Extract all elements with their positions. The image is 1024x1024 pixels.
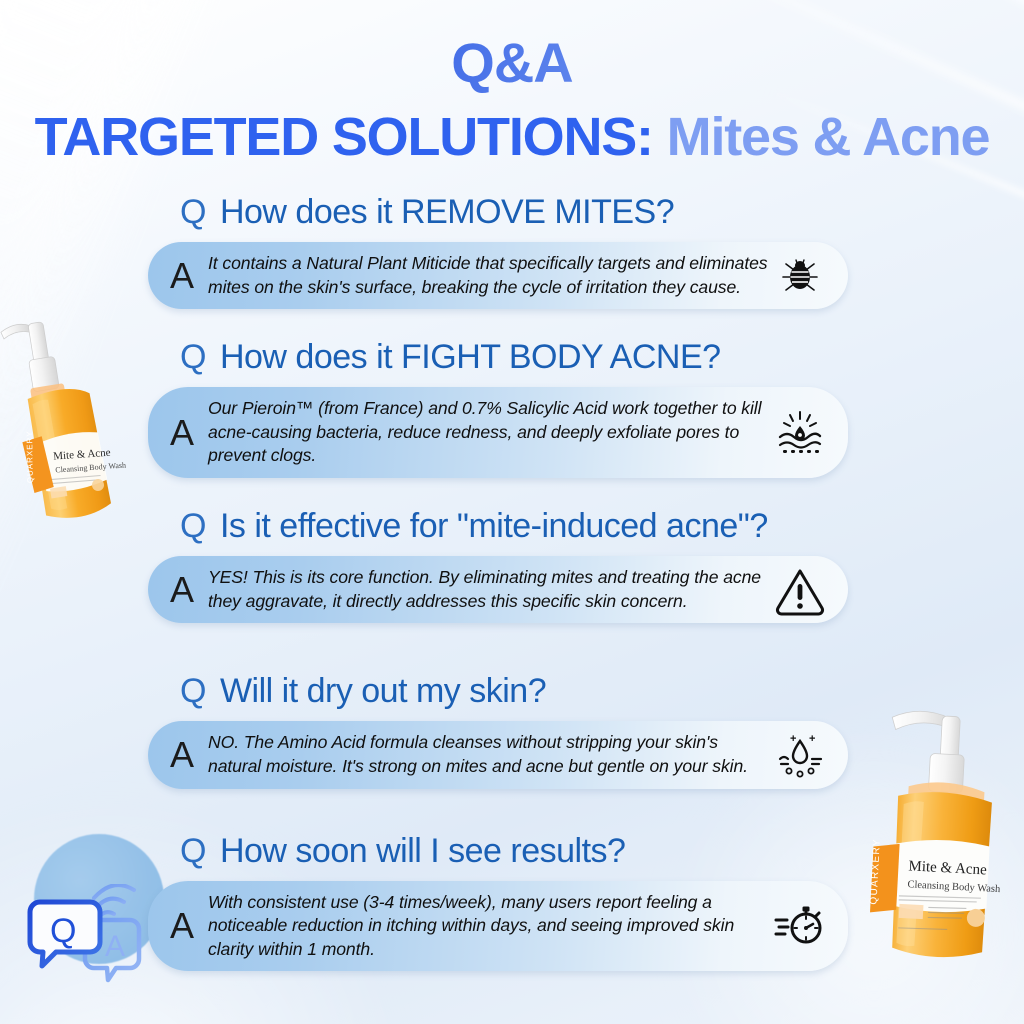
answer-text: NO. The Amino Acid formula cleanses with… xyxy=(208,731,770,778)
qa-block: Q How does it FIGHT BODY ACNE? A Our Pie… xyxy=(0,337,1024,478)
warning-triangle-icon xyxy=(774,564,826,616)
question-row: Q Will it dry out my skin? xyxy=(0,671,1024,711)
qa-infographic-poster: Q&A TARGETED SOLUTIONS: Mites & Acne Q H… xyxy=(0,0,1024,1024)
question-marker: Q xyxy=(180,831,206,871)
question-text: How does it REMOVE MITES? xyxy=(220,192,674,232)
answer-bubble: A NO. The Amino Acid formula cleanses wi… xyxy=(148,721,848,788)
page-title-qa: Q&A xyxy=(0,30,1024,95)
answer-marker: A xyxy=(170,572,194,608)
chat-icon-q-letter: Q xyxy=(50,912,76,950)
answer-marker: A xyxy=(170,737,194,773)
question-text: How soon will I see results? xyxy=(220,831,626,871)
answer-bubble: A It contains a Natural Plant Miticide t… xyxy=(148,242,848,309)
answer-bubble: A With consistent use (3-4 times/week), … xyxy=(148,881,848,972)
question-text: Will it dry out my skin? xyxy=(220,671,546,711)
answer-bubble: A Our Pieroin™ (from France) and 0.7% Sa… xyxy=(148,387,848,478)
svg-text:+: + xyxy=(790,733,796,745)
product-bottle-right: Mite & Acne Cleansing Body Wash QUARXERY xyxy=(859,698,1023,977)
question-text: How does it FIGHT BODY ACNE? xyxy=(220,337,721,377)
stopwatch-icon xyxy=(774,900,826,952)
svg-text:+: + xyxy=(809,733,815,745)
svg-text:QUARXERY: QUARXERY xyxy=(25,430,35,483)
question-row: Q How does it FIGHT BODY ACNE? xyxy=(0,337,1024,377)
headline-light: Mites & Acne xyxy=(667,107,990,167)
pore-exfoliation-icon xyxy=(774,407,826,459)
answer-text: It contains a Natural Plant Miticide tha… xyxy=(208,252,770,299)
mite-bug-icon xyxy=(774,250,826,302)
answer-marker: A xyxy=(170,415,194,451)
moisture-droplet-icon: + + xyxy=(774,729,826,781)
question-marker: Q xyxy=(180,337,206,377)
answer-bubble: A YES! This is its core function. By eli… xyxy=(148,556,848,623)
answer-text: With consistent use (3-4 times/week), ma… xyxy=(208,891,770,962)
answer-marker: A xyxy=(170,258,194,294)
answer-text: YES! This is its core function. By elimi… xyxy=(208,566,770,613)
question-marker: Q xyxy=(180,671,206,711)
question-marker: Q xyxy=(180,506,206,546)
question-text: Is it effective for "mite-induced acne"? xyxy=(220,506,768,546)
question-row: Q How does it REMOVE MITES? xyxy=(0,192,1024,232)
qa-chat-bubbles-icon: A Q xyxy=(26,884,146,988)
question-marker: Q xyxy=(180,192,206,232)
page-headline: TARGETED SOLUTIONS: Mites & Acne xyxy=(0,106,1024,168)
light-streak xyxy=(686,0,1024,20)
qa-block: Q How does it REMOVE MITES? A It contain… xyxy=(0,192,1024,309)
chat-icon-a-letter: A xyxy=(105,930,125,963)
answer-text: Our Pieroin™ (from France) and 0.7% Sali… xyxy=(208,397,770,468)
answer-marker: A xyxy=(170,908,194,944)
headline-strong: TARGETED SOLUTIONS: xyxy=(35,107,653,167)
